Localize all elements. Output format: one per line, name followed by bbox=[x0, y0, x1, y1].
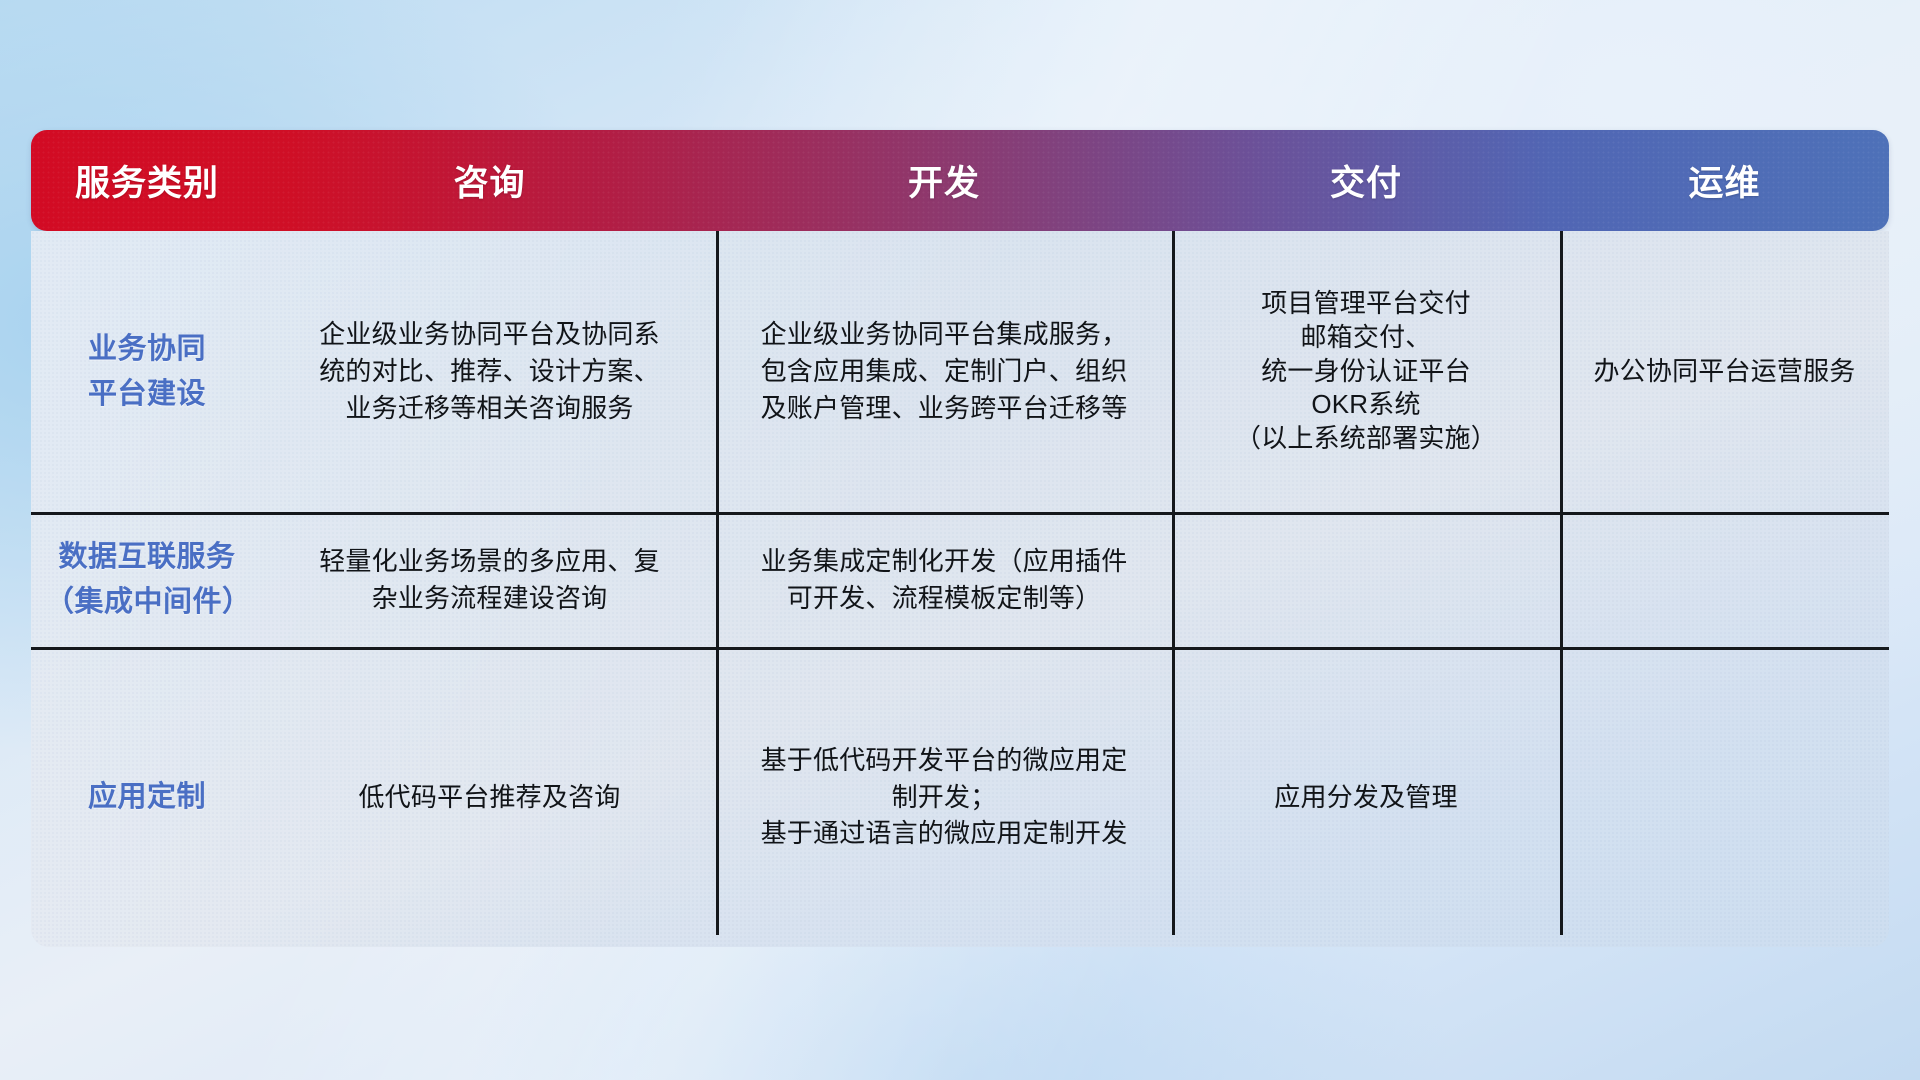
row-category-label: 应用定制 bbox=[88, 775, 206, 820]
row-category-cell: 数据互联服务 （集成中间件） bbox=[31, 512, 263, 647]
row-consulting-text: 企业级业务协同平台及协同系 统的对比、推荐、设计方案、 业务迁移等相关咨询服务 bbox=[319, 316, 660, 427]
header-consulting: 咨询 bbox=[263, 155, 716, 206]
row-operations-cell bbox=[1560, 512, 1889, 647]
column-divider-development-delivery bbox=[1172, 231, 1175, 935]
header-development: 开发 bbox=[716, 155, 1172, 206]
row-delivery-cell bbox=[1172, 512, 1560, 647]
table-row: 数据互联服务 （集成中间件） 轻量化业务场景的多应用、复 杂业务流程建设咨询 业… bbox=[31, 512, 1889, 647]
row-development-cell: 基于低代码开发平台的微应用定 制开发； 基于通过语言的微应用定制开发 bbox=[716, 647, 1172, 947]
row-delivery-text: 应用分发及管理 bbox=[1274, 779, 1457, 816]
header-delivery: 交付 bbox=[1172, 155, 1560, 206]
row-development-text: 基于低代码开发平台的微应用定 制开发； 基于通过语言的微应用定制开发 bbox=[761, 742, 1128, 853]
header-service-category: 服务类别 bbox=[31, 155, 263, 206]
row-consulting-text: 轻量化业务场景的多应用、复 杂业务流程建设咨询 bbox=[319, 543, 660, 617]
row-divider-1 bbox=[31, 512, 1889, 515]
row-delivery-cell: 项目管理平台交付 邮箱交付、 统一身份认证平台 OKR系统 （以上系统部署实施） bbox=[1172, 231, 1560, 512]
row-category-cell: 应用定制 bbox=[31, 647, 263, 947]
row-consulting-cell: 低代码平台推荐及咨询 bbox=[263, 647, 716, 947]
header-operations: 运维 bbox=[1560, 155, 1889, 206]
row-operations-text: 办公协同平台运营服务 bbox=[1593, 353, 1855, 390]
table-row: 业务协同 平台建设 企业级业务协同平台及协同系 统的对比、推荐、设计方案、 业务… bbox=[31, 231, 1889, 512]
row-divider-2 bbox=[31, 647, 1889, 650]
row-category-label: 业务协同 平台建设 bbox=[88, 327, 206, 417]
table-header-row: 服务类别 咨询 开发 交付 运维 bbox=[31, 130, 1889, 231]
row-consulting-cell: 轻量化业务场景的多应用、复 杂业务流程建设咨询 bbox=[263, 512, 716, 647]
column-divider-consulting-development bbox=[716, 231, 719, 935]
row-delivery-text: 项目管理平台交付 邮箱交付、 统一身份认证平台 OKR系统 （以上系统部署实施） bbox=[1235, 287, 1497, 456]
row-development-cell: 业务集成定制化开发（应用插件 可开发、流程模板定制等） bbox=[716, 512, 1172, 647]
row-category-cell: 业务协同 平台建设 bbox=[31, 231, 263, 512]
row-operations-cell: 办公协同平台运营服务 bbox=[1560, 231, 1889, 512]
row-development-text: 业务集成定制化开发（应用插件 可开发、流程模板定制等） bbox=[761, 543, 1128, 617]
row-consulting-cell: 企业级业务协同平台及协同系 统的对比、推荐、设计方案、 业务迁移等相关咨询服务 bbox=[263, 231, 716, 512]
row-delivery-cell: 应用分发及管理 bbox=[1172, 647, 1560, 947]
table-body: 业务协同 平台建设 企业级业务协同平台及协同系 统的对比、推荐、设计方案、 业务… bbox=[31, 231, 1889, 947]
column-divider-delivery-operations bbox=[1560, 231, 1563, 935]
row-development-cell: 企业级业务协同平台集成服务， 包含应用集成、定制门户、组织 及账户管理、业务跨平… bbox=[716, 231, 1172, 512]
service-matrix-table: 服务类别 咨询 开发 交付 运维 业务协同 平台建设 企业级业务协同平台及协同系… bbox=[31, 130, 1889, 947]
table-row: 应用定制 低代码平台推荐及咨询 基于低代码开发平台的微应用定 制开发； 基于通过… bbox=[31, 647, 1889, 947]
row-development-text: 企业级业务协同平台集成服务， 包含应用集成、定制门户、组织 及账户管理、业务跨平… bbox=[761, 316, 1128, 427]
row-category-label: 数据互联服务 （集成中间件） bbox=[45, 535, 249, 625]
row-operations-cell bbox=[1560, 647, 1889, 947]
row-consulting-text: 低代码平台推荐及咨询 bbox=[358, 779, 620, 816]
